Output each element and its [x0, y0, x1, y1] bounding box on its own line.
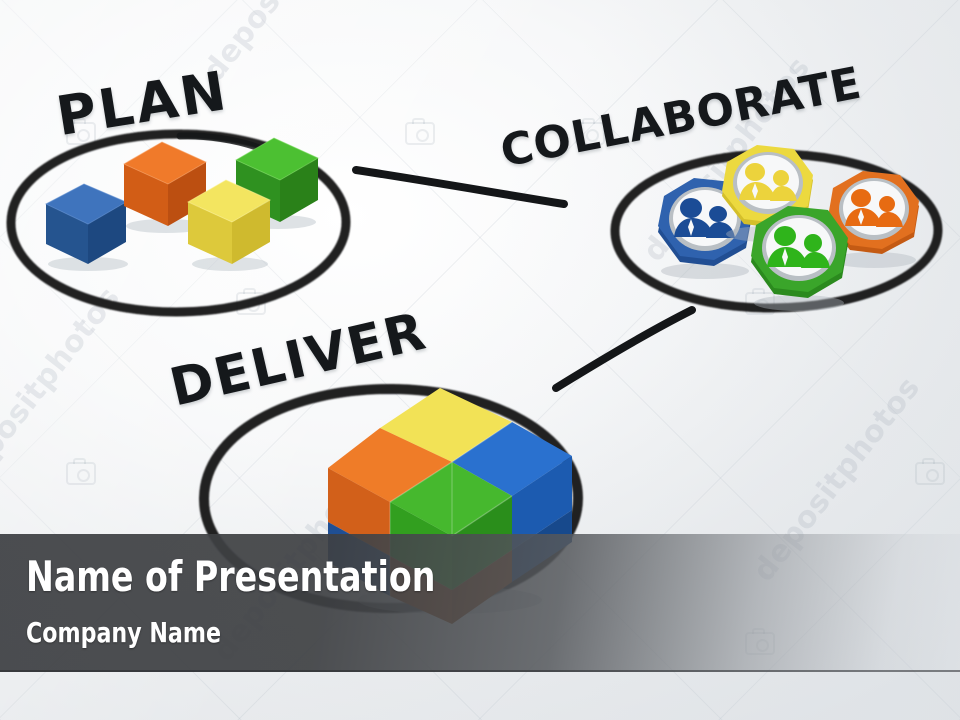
presentation-slide: depositphotos depositphotos depositphoto… [0, 0, 960, 720]
camera-icon [915, 462, 945, 485]
camera-icon [405, 122, 435, 145]
camera-icon [66, 462, 96, 485]
presentation-title: Name of Presentation [26, 552, 435, 601]
collaborate-badge-green [742, 204, 858, 312]
plan-cube-yellow [182, 172, 278, 272]
company-name: Company Name [26, 616, 221, 649]
